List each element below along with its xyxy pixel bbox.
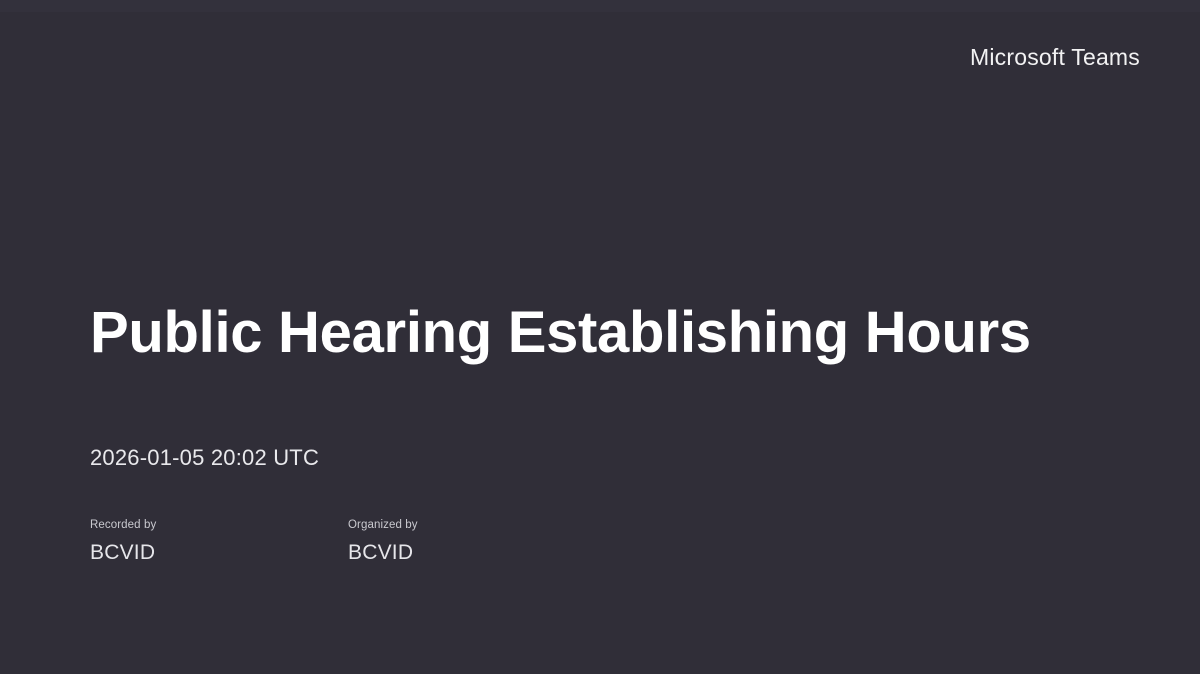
- recorded-by-value: BCVID: [90, 541, 348, 564]
- recorded-by-label: Recorded by: [90, 519, 348, 533]
- organized-by-block: Organized by BCVID: [348, 519, 606, 564]
- top-edge-band: [0, 0, 1200, 12]
- meeting-title: Public Hearing Establishing Hours: [90, 303, 1031, 364]
- recorded-by-block: Recorded by BCVID: [90, 519, 348, 564]
- organized-by-label: Organized by: [348, 519, 606, 533]
- microsoft-teams-branding: Microsoft Teams: [970, 46, 1140, 69]
- recording-title-slide: Microsoft Teams Public Hearing Establish…: [0, 0, 1200, 674]
- organized-by-value: BCVID: [348, 541, 606, 564]
- meeting-metadata: Recorded by BCVID Organized by BCVID: [90, 519, 606, 564]
- meeting-timestamp: 2026-01-05 20:02 UTC: [90, 446, 319, 470]
